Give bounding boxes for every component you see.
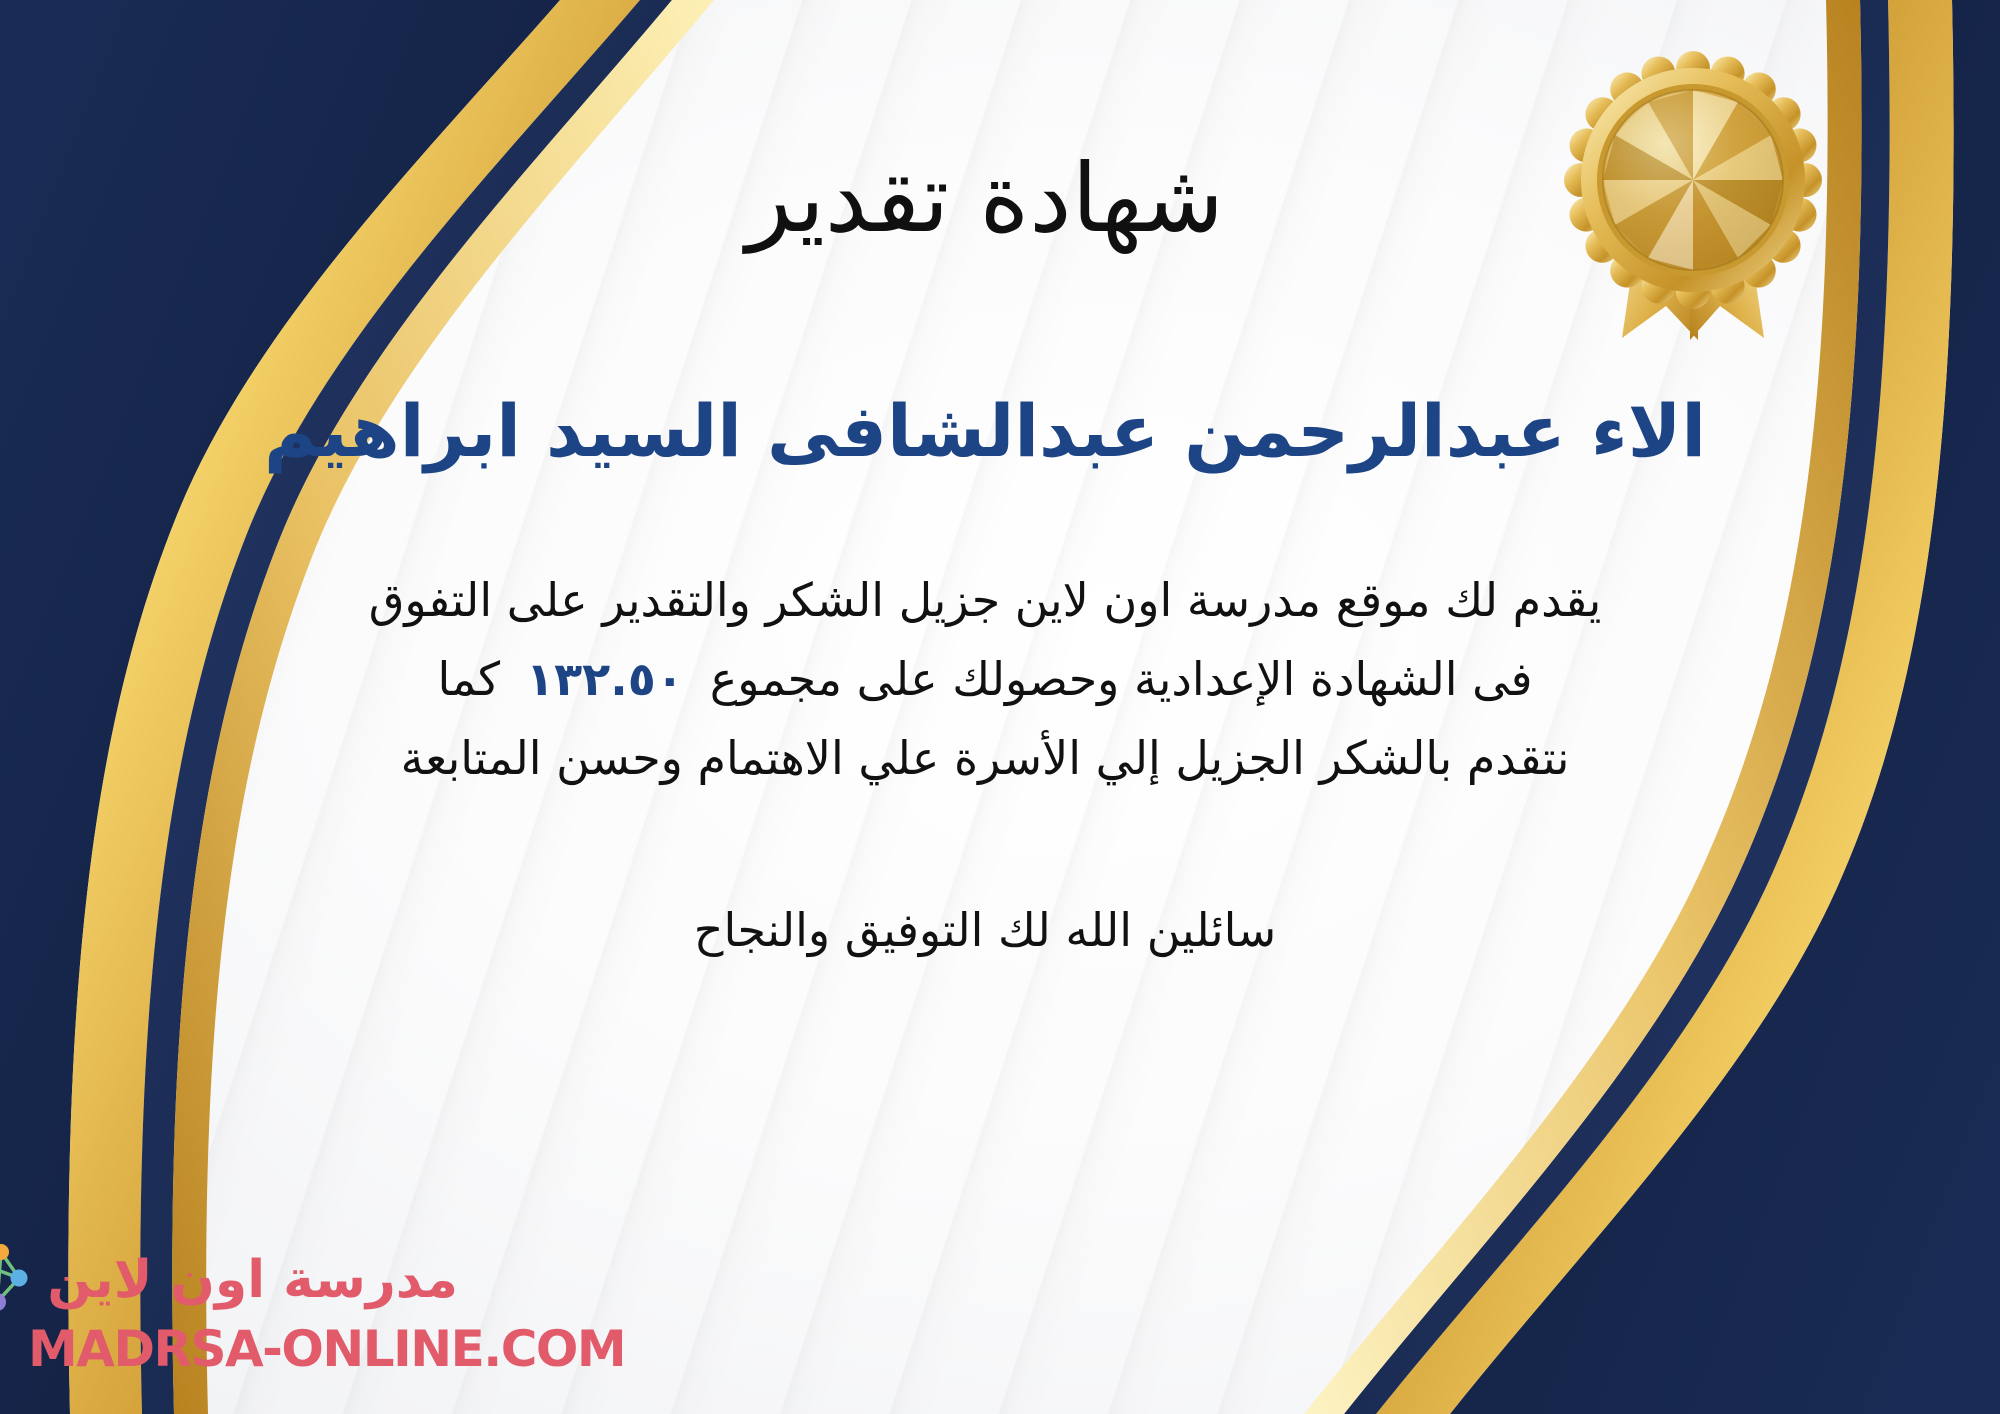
recipient-name: الاء عبدالرحمن عبدالشافى السيد ابراهيم	[110, 390, 1860, 473]
body-line-2: فى الشهادة الإعدادية وحصولك على مجموع١٣٢…	[110, 640, 1860, 719]
certificate-body: يقدم لك موقع مدرسة اون لاين جزيل الشكر و…	[110, 561, 1860, 798]
body-line-1: يقدم لك موقع مدرسة اون لاين جزيل الشكر و…	[110, 561, 1860, 640]
closing-line: سائلين الله لك التوفيق والنجاح	[110, 894, 1860, 968]
brand-logo-row: مدرسة اون لاين	[28, 1238, 458, 1322]
body-line-2-prefix: فى الشهادة الإعدادية وحصولك على مجموع	[710, 652, 1533, 706]
body-line-2-suffix: كما	[437, 652, 500, 706]
brand-url[interactable]: MADRSA-ONLINE.COM	[28, 1324, 458, 1374]
brand-arabic-name: مدرسة اون لاين	[47, 1254, 458, 1306]
body-line-3: نتقدم بالشكر الجزيل إلي الأسرة علي الاهت…	[110, 719, 1860, 798]
page-title: شهادة تقدير	[110, 150, 1860, 250]
brand-logo[interactable]: مدرسة اون لاين	[28, 1238, 458, 1388]
certificate-canvas: شهادة تقدير الاء عبدالرحمن عبدالشافى الس…	[0, 0, 2000, 1414]
certificate-content: شهادة تقدير الاء عبدالرحمن عبدالشافى الس…	[110, 0, 1860, 967]
score-value: ١٣٢.٥٠	[500, 652, 710, 706]
network-nodes-icon	[0, 1238, 37, 1322]
